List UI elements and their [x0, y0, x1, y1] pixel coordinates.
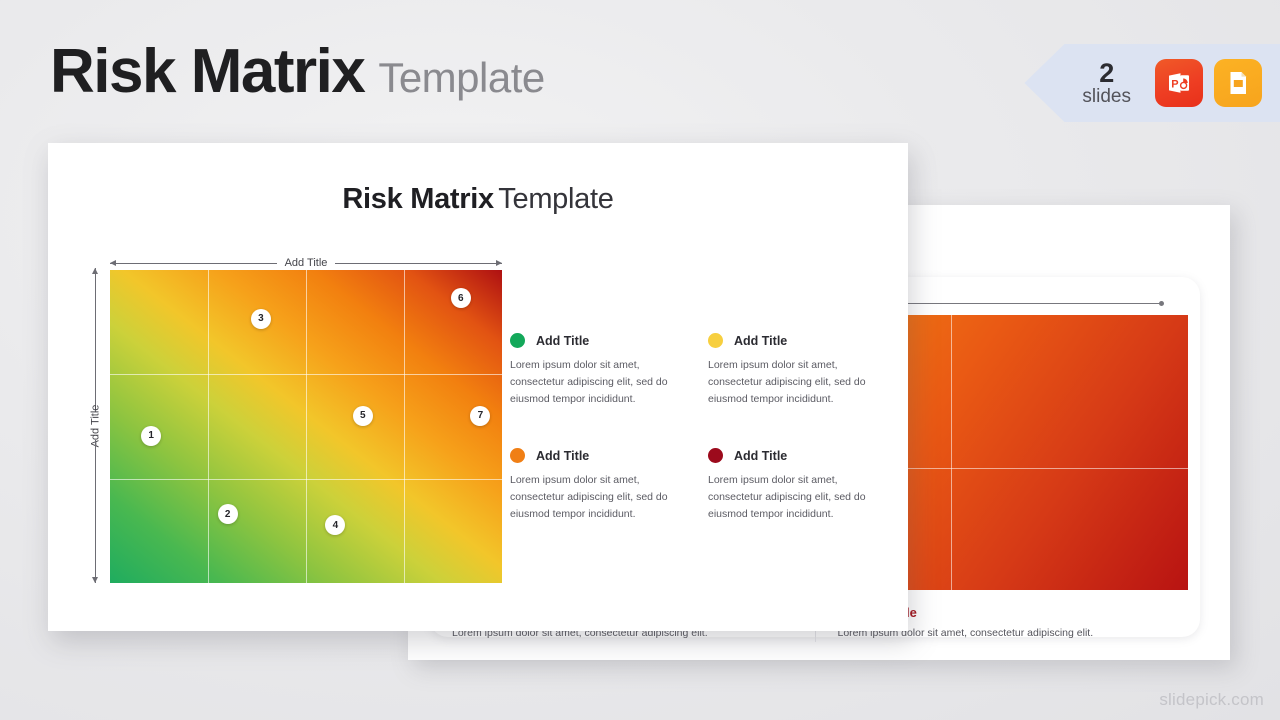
legend-body: Lorem ipsum dolor sit amet, consectetur …: [708, 357, 888, 408]
main-slide[interactable]: Risk Matrix Template Add Title Add Title…: [48, 143, 908, 631]
slide-title-light: Template: [498, 183, 613, 215]
legend-title: Add Title: [536, 449, 589, 463]
risk-marker[interactable]: 5: [353, 406, 373, 426]
x-axis: Add Title: [110, 256, 502, 270]
legend-dot-icon: [708, 448, 723, 463]
legend-item-red[interactable]: Add Title Lorem ipsum dolor sit amet, co…: [708, 448, 888, 523]
format-icons: P: [1155, 59, 1262, 107]
risk-marker[interactable]: 2: [218, 504, 238, 524]
risk-marker[interactable]: 3: [251, 309, 271, 329]
slide-title: Risk Matrix Template: [48, 183, 908, 216]
legend-dot-icon: [510, 448, 525, 463]
legend-title: Add Title: [734, 334, 787, 348]
x-axis-arrow-left-icon: [110, 263, 277, 264]
risk-marker[interactable]: 6: [451, 288, 471, 308]
legend-title: Add Title: [536, 334, 589, 348]
grid-vline: [951, 315, 952, 590]
y-axis-arrow-down-icon: [95, 440, 96, 584]
google-slides-icon[interactable]: [1214, 59, 1262, 107]
risk-marker[interactable]: 1: [141, 426, 161, 446]
risk-matrix-grid[interactable]: 1 2 3 4 5 6 7: [110, 270, 502, 583]
svg-text:P: P: [1171, 79, 1178, 91]
grid-hline: [110, 479, 502, 480]
legend-body: Lorem ipsum dolor sit amet, consectetur …: [708, 472, 888, 523]
y-axis-arrow-up-icon: [95, 268, 96, 412]
legend-dot-icon: [708, 333, 723, 348]
risk-marker[interactable]: 4: [325, 515, 345, 535]
grid-vline: [208, 270, 209, 583]
watermark: slidepick.com: [1159, 690, 1264, 710]
y-axis: Add Title: [88, 268, 102, 583]
risk-marker[interactable]: 7: [470, 406, 490, 426]
powerpoint-icon[interactable]: P: [1155, 59, 1203, 107]
x-axis-arrow-right-icon: [335, 263, 502, 264]
page-title: Risk Matrix Template: [50, 36, 545, 107]
legend-title: Add Title: [734, 449, 787, 463]
page-title-bold: Risk Matrix: [50, 36, 364, 107]
legend-body: Lorem ipsum dolor sit amet, consectetur …: [510, 472, 690, 523]
legend-item-orange[interactable]: Add Title Lorem ipsum dolor sit amet, co…: [510, 448, 690, 523]
slide-count-number: 2: [1082, 59, 1131, 87]
grid-vline: [306, 270, 307, 583]
page-title-light: Template: [378, 54, 544, 102]
legend-item-green[interactable]: Add Title Lorem ipsum dolor sit amet, co…: [510, 333, 690, 408]
grid-vline: [404, 270, 405, 583]
slide-count: 2 slides: [1082, 59, 1131, 107]
slides-badge: 2 slides P: [1024, 44, 1280, 122]
legend-dot-icon: [510, 333, 525, 348]
legend-item-yellow[interactable]: Add Title Lorem ipsum dolor sit amet, co…: [708, 333, 888, 408]
slide-title-bold: Risk Matrix: [342, 183, 493, 215]
x-axis-label: Add Title: [285, 257, 328, 269]
legend: Add Title Lorem ipsum dolor sit amet, co…: [510, 333, 888, 523]
slide-count-unit: slides: [1082, 87, 1131, 107]
legend-body: Lorem ipsum dolor sit amet, consectetur …: [510, 357, 690, 408]
grid-hline: [110, 374, 502, 375]
